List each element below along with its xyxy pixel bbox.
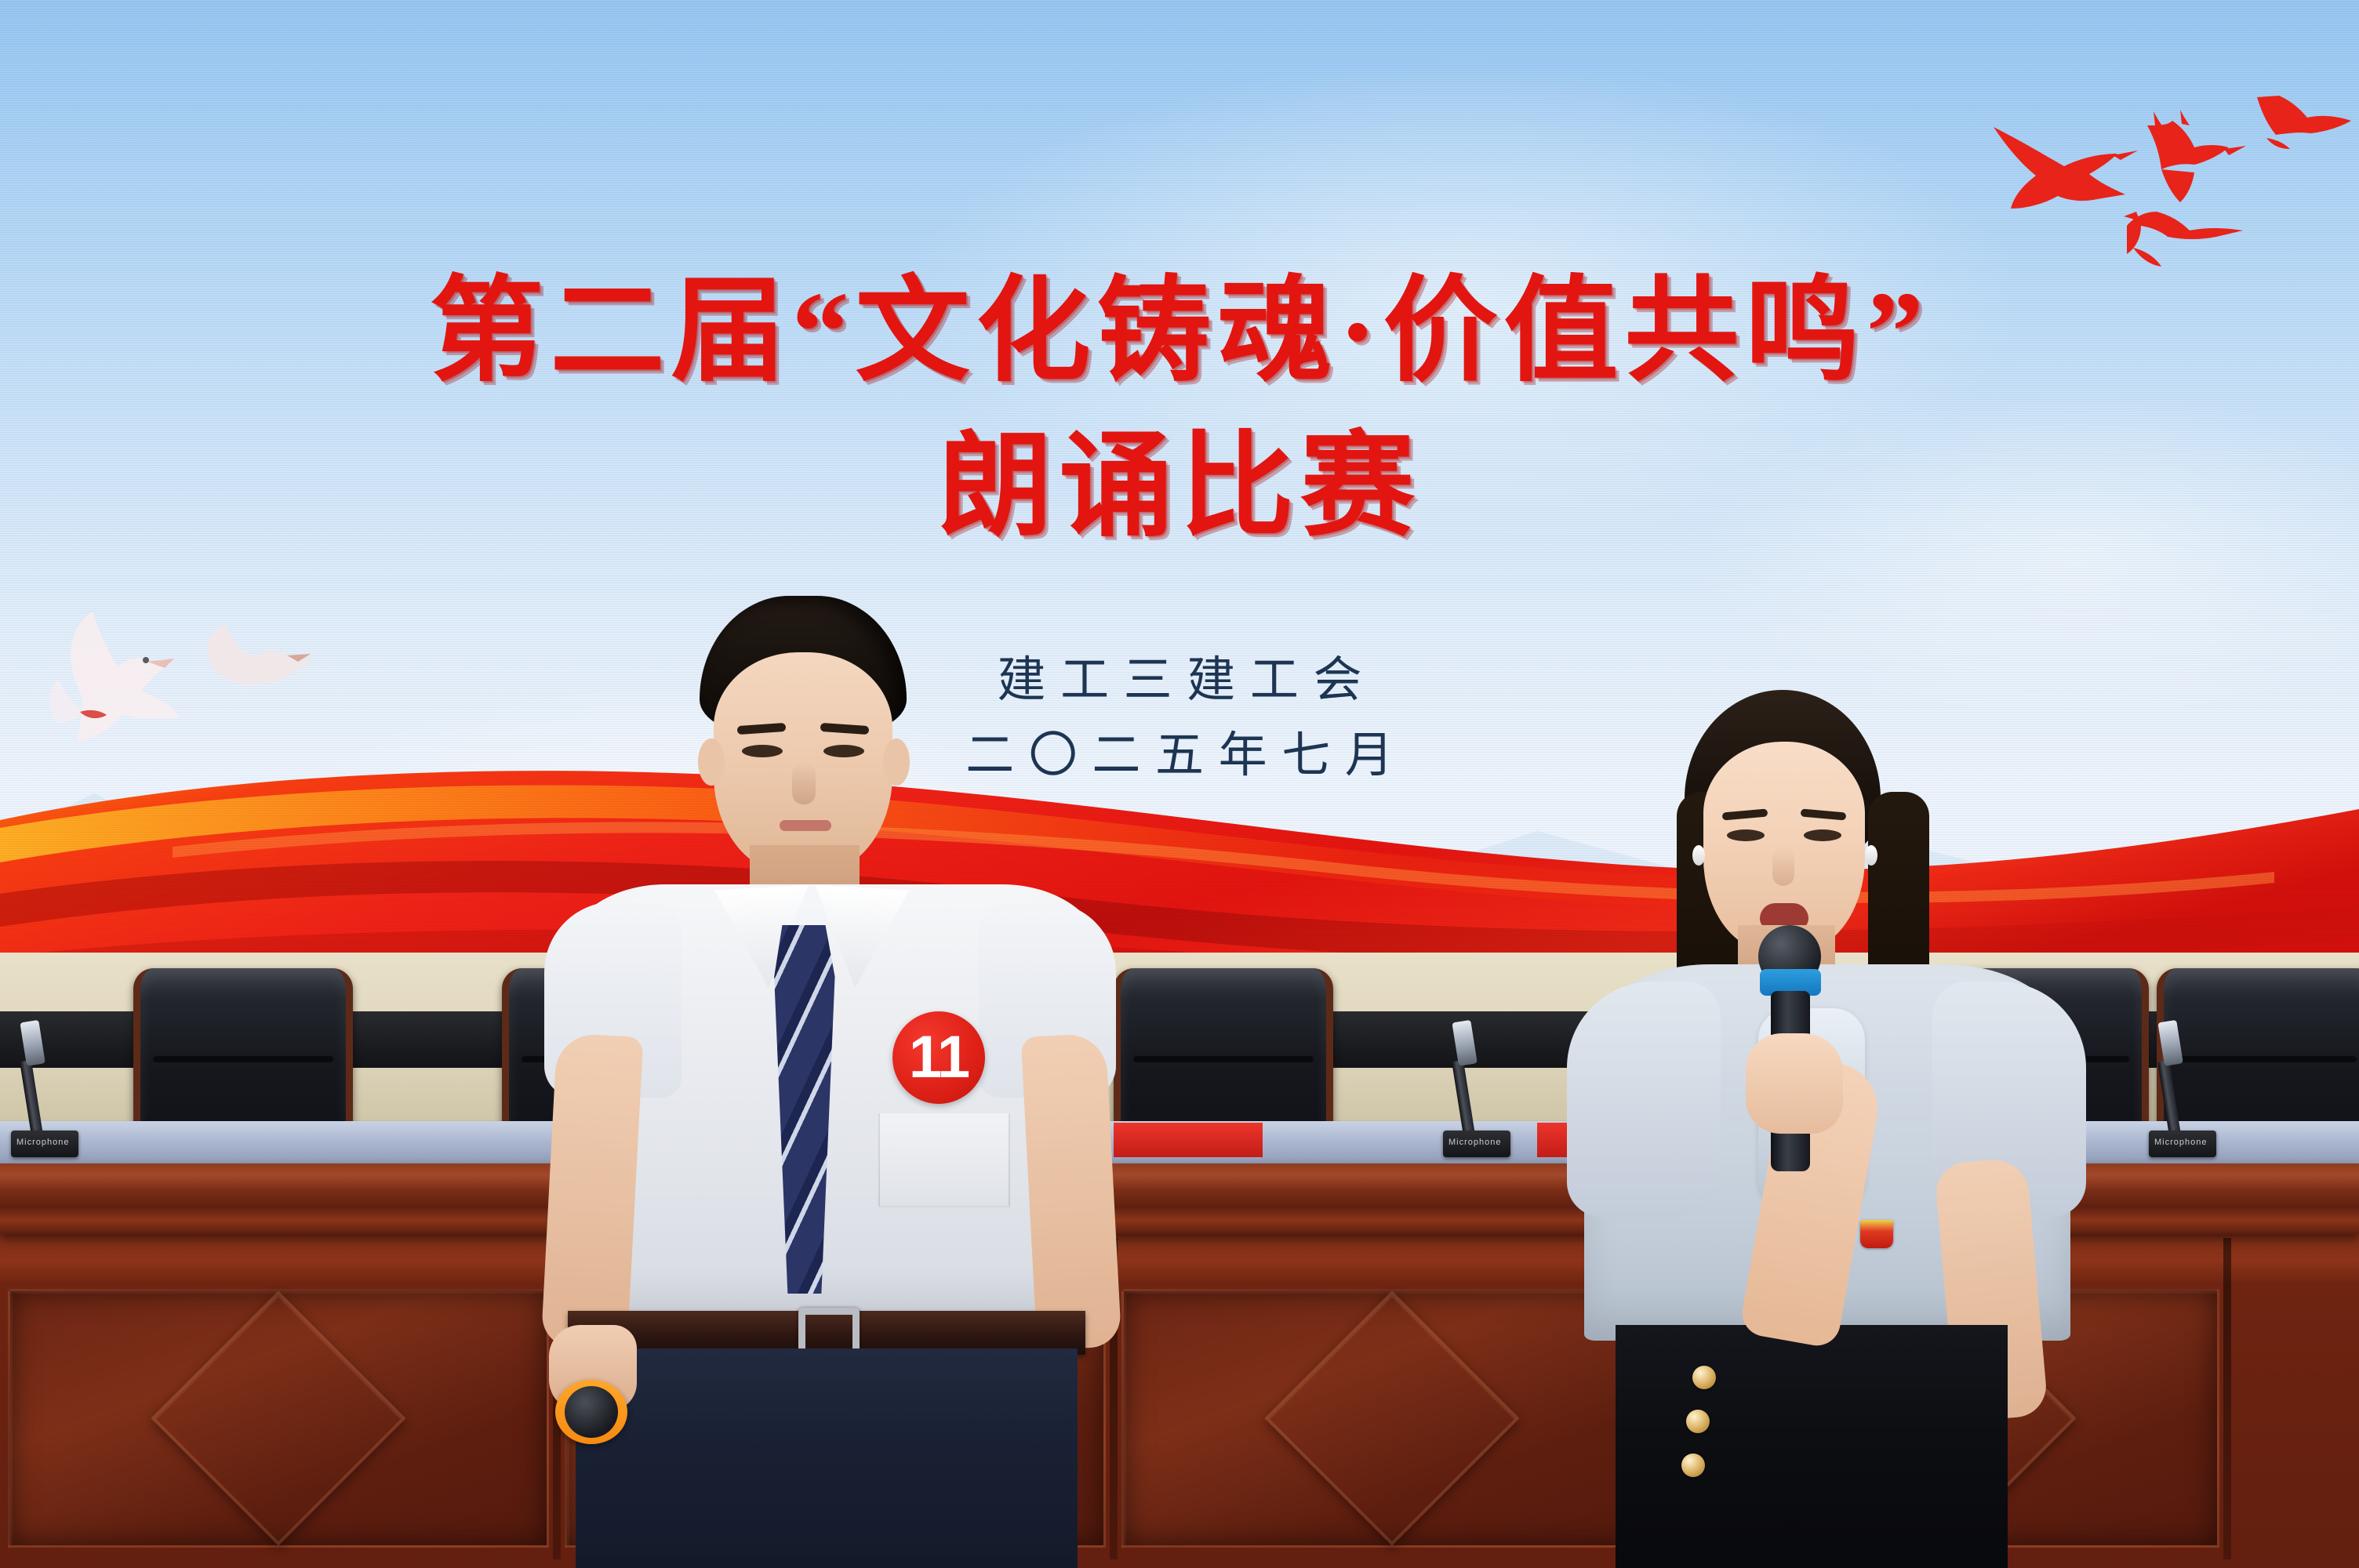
podium-panel <box>1121 1289 1663 1548</box>
mic-base: Microphone <box>11 1131 78 1157</box>
left-eye <box>1727 829 1765 841</box>
table-red-marker <box>1114 1123 1263 1157</box>
skirt-button <box>1686 1410 1710 1433</box>
female-mic-hand <box>1746 1033 1843 1134</box>
title-line-2: 朗诵比赛 <box>0 430 2359 544</box>
mic-stem <box>1452 1060 1475 1136</box>
mic-capsule <box>20 1020 45 1066</box>
left-eyebrow <box>737 723 787 735</box>
desk-microphone[interactable]: Microphone <box>11 1019 97 1157</box>
female-left-sleeve <box>1567 982 1721 1217</box>
mic-stem <box>2157 1060 2181 1136</box>
female-skirt <box>1616 1325 2008 1568</box>
right-eye <box>823 745 864 757</box>
right-earring <box>1865 845 1877 866</box>
right-ear <box>883 739 910 786</box>
right-eye <box>1804 829 1841 841</box>
podium-diamond-inlay <box>1264 1290 1519 1545</box>
mic-mesh-head <box>565 1386 618 1438</box>
podium-panel <box>8 1289 549 1548</box>
contestant-number-text: 11 <box>909 1028 969 1087</box>
photo-stage: 第二届“文化铸魂·价值共鸣” 朗诵比赛 建工三建工会 二〇二五年七月 <box>0 0 2359 1568</box>
desk-microphone[interactable]: Microphone <box>1443 1019 1529 1157</box>
shirt-pocket <box>878 1113 1010 1207</box>
conference-chair <box>133 968 353 1137</box>
party-emblem-pin <box>1860 1220 1893 1248</box>
event-title-block: 第二届“文化铸魂·价值共鸣” 朗诵比赛 <box>0 274 2359 544</box>
mic-capsule <box>1452 1020 1477 1066</box>
red-dove-icon <box>1945 71 2353 282</box>
conference-chair <box>1114 968 1333 1137</box>
desk-microphone[interactable]: Microphone <box>2149 1019 2235 1157</box>
nose <box>792 762 816 804</box>
mic-base-label: Microphone <box>1448 1138 1501 1147</box>
right-eyebrow <box>1801 808 1847 820</box>
mic-base-label: Microphone <box>2154 1138 2207 1147</box>
title-line-1: 第二届“文化铸魂·价值共鸣” <box>0 274 2359 389</box>
contestant-number-badge: 11 <box>892 1011 985 1104</box>
skirt-button <box>1692 1366 1716 1389</box>
mic-base: Microphone <box>1443 1131 1510 1157</box>
left-eye <box>742 745 783 757</box>
female-presenter <box>1584 690 2070 1568</box>
podium-seam <box>2223 1238 2231 1559</box>
left-earring <box>1692 845 1705 866</box>
male-face <box>714 652 892 873</box>
mouth <box>780 820 831 831</box>
male-trousers <box>576 1348 1078 1568</box>
male-right-arm <box>1021 1033 1122 1350</box>
mic-capsule <box>2157 1020 2183 1066</box>
podium-diamond-inlay <box>151 1290 405 1545</box>
mic-base: Microphone <box>2149 1131 2216 1157</box>
female-face <box>1703 742 1865 952</box>
left-eyebrow <box>1722 808 1768 820</box>
nose <box>1772 847 1794 886</box>
male-presenter: 11 <box>549 596 1114 1568</box>
skirt-button <box>1681 1454 1705 1477</box>
right-eyebrow <box>820 723 870 735</box>
male-left-arm <box>541 1033 644 1350</box>
mic-base-label: Microphone <box>16 1138 69 1147</box>
handheld-microphone-blue[interactable] <box>1758 925 1821 988</box>
handheld-microphone-orange[interactable] <box>555 1380 627 1444</box>
left-ear <box>698 739 725 786</box>
mic-stem <box>20 1060 43 1136</box>
